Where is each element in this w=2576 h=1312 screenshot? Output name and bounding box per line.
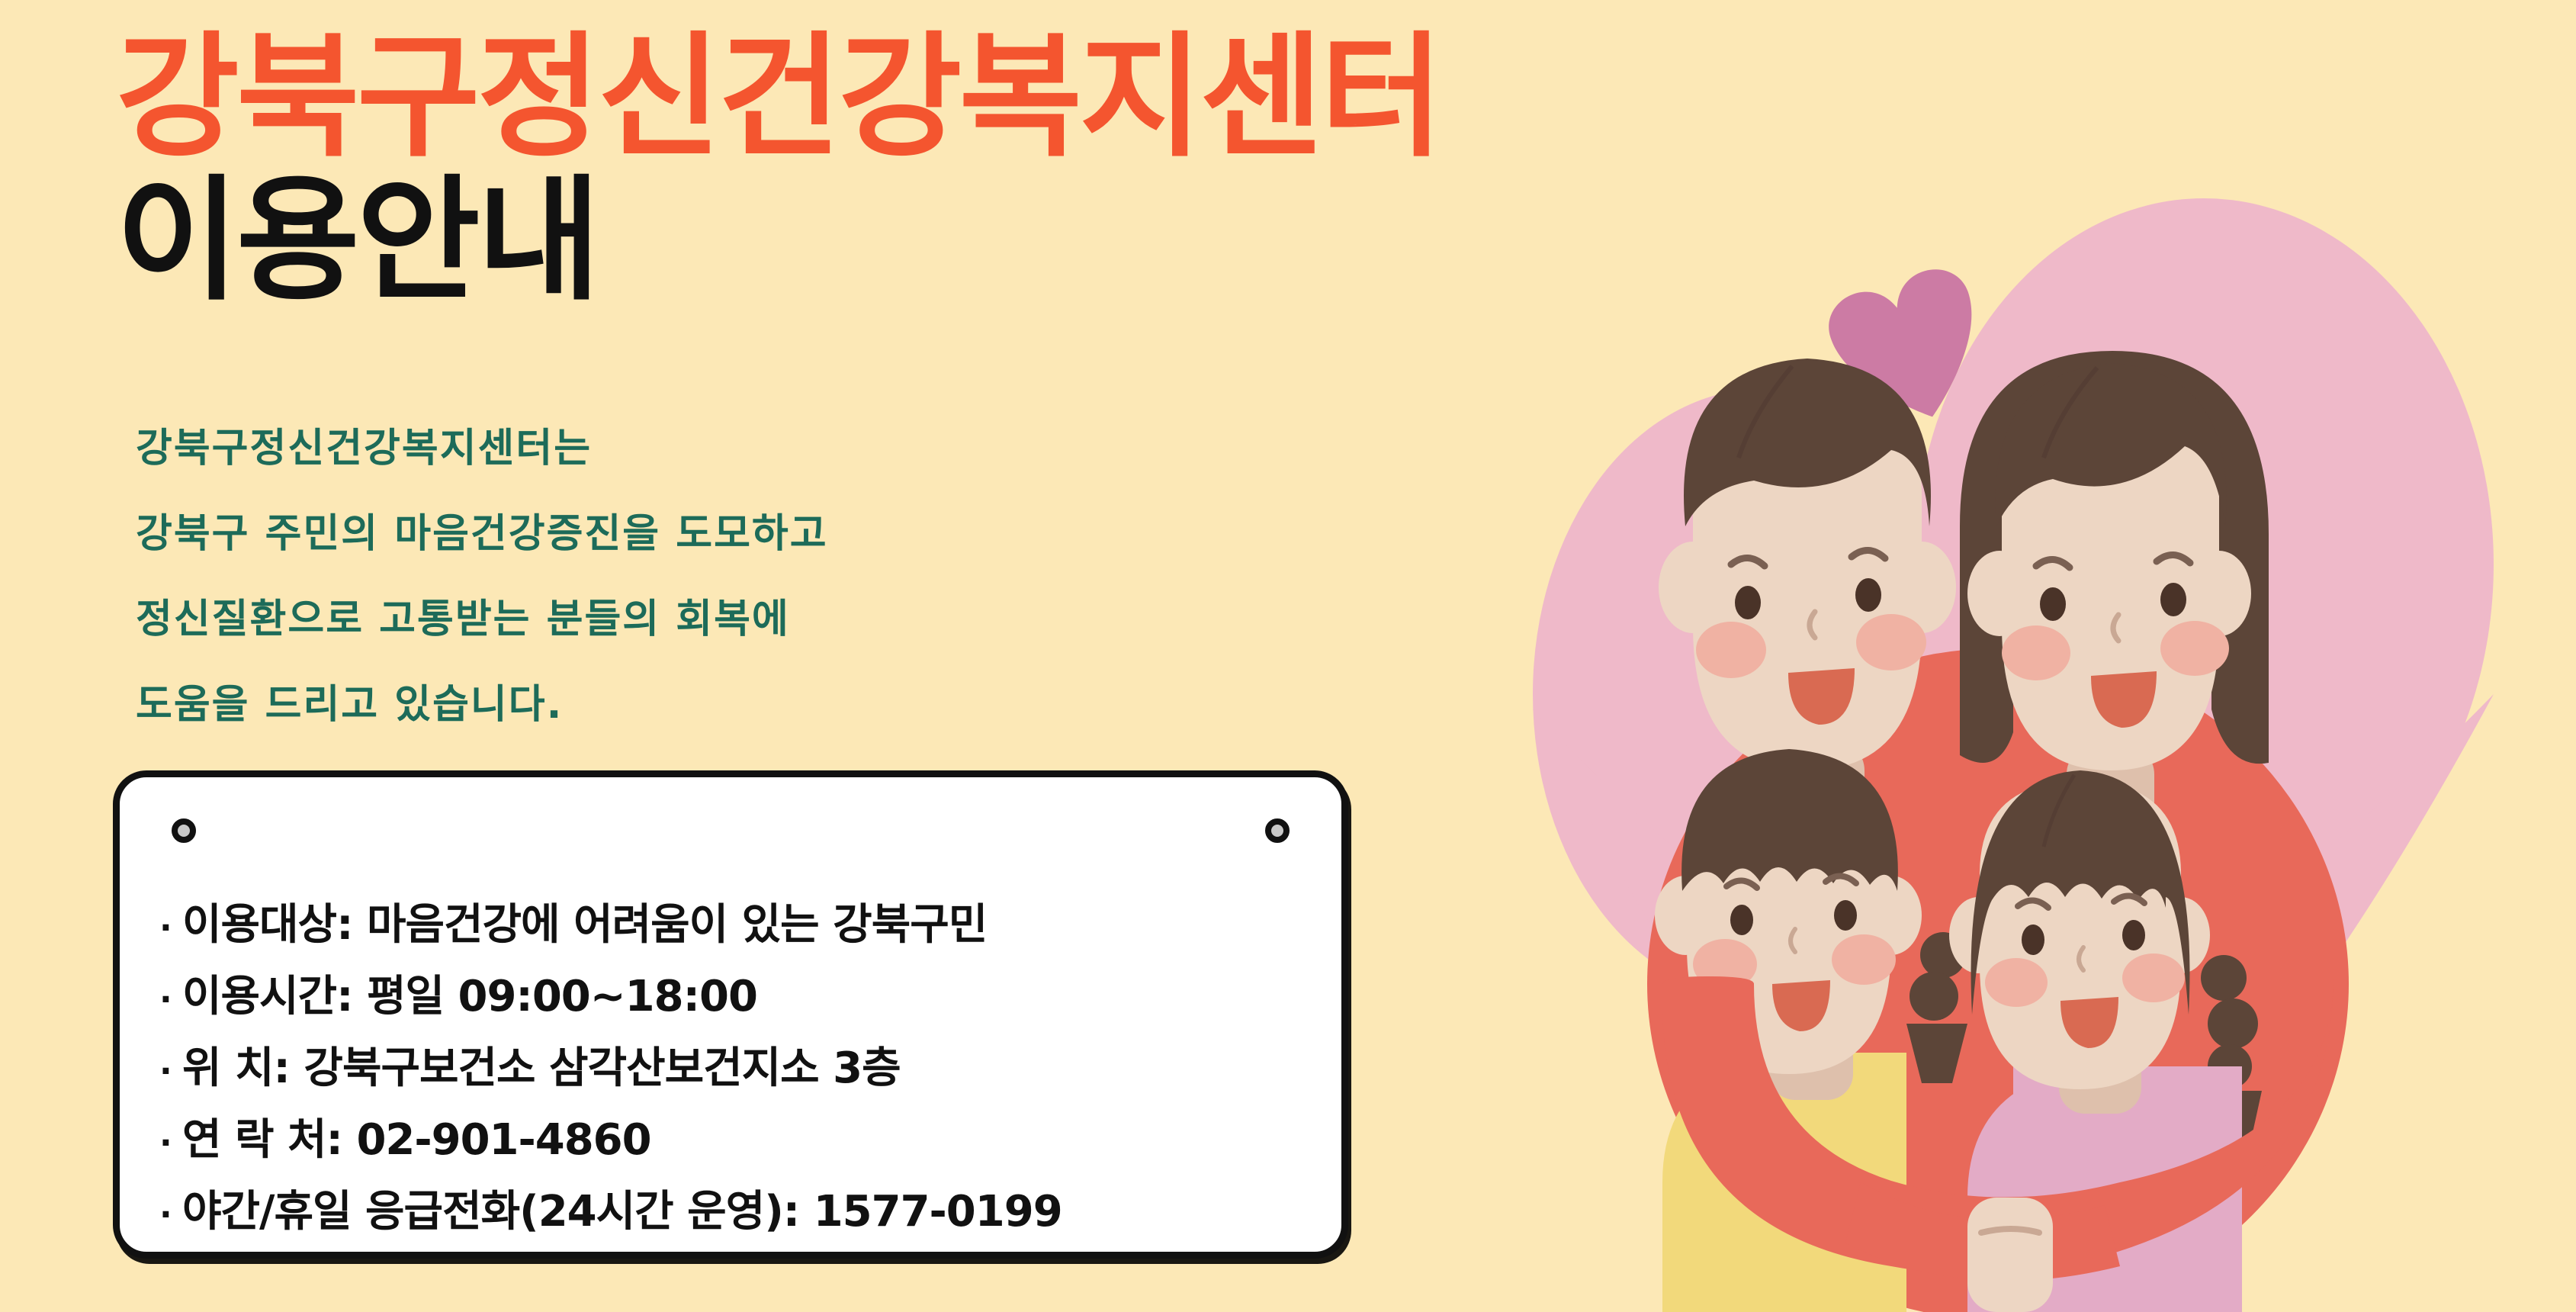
description-line: 정신질환으로 고통받는 분들의 회복에 bbox=[136, 577, 1280, 662]
info-row-eligibility: · 이용대상: 마음건강에 어려움이 있는 강북구민 bbox=[159, 890, 1319, 962]
info-row-label: 야간/휴일 응급전화(24시간 운영): 1577-0199 bbox=[182, 1177, 1062, 1239]
description-line: 강북구 주민의 마음건강증진을 도모하고 bbox=[136, 491, 1280, 577]
screw-hole-right-icon bbox=[1265, 818, 1290, 843]
bullet-icon: · bbox=[159, 1195, 182, 1234]
info-row-label: 이용대상: 마음건강에 어려움이 있는 강북구민 bbox=[182, 890, 987, 952]
description-paragraph: 강북구정신건강복지센터는 강북구 주민의 마음건강증진을 도모하고 정신질환으로… bbox=[136, 406, 1280, 748]
info-board: · 이용대상: 마음건강에 어려움이 있는 강북구민 · 이용시간: 평일 09… bbox=[113, 770, 1348, 1259]
description-line: 도움을 드리고 있습니다. bbox=[136, 662, 1280, 748]
bullet-icon: · bbox=[159, 1052, 182, 1091]
bullet-icon: · bbox=[159, 1124, 182, 1162]
info-list: · 이용대상: 마음건강에 어려움이 있는 강북구민 · 이용시간: 평일 09… bbox=[159, 890, 1319, 1249]
screw-hole-left-icon bbox=[172, 818, 196, 843]
bullet-icon: · bbox=[159, 980, 182, 1019]
info-row-location: · 위 치: 강북구보건소 삼각산보건지소 3층 bbox=[159, 1034, 1319, 1105]
info-row-hours: · 이용시간: 평일 09:00~18:00 bbox=[159, 962, 1319, 1034]
info-row-label: 위 치: 강북구보건소 삼각산보건지소 3층 bbox=[182, 1034, 901, 1095]
info-row-label: 연 락 처: 02-901-4860 bbox=[182, 1105, 651, 1167]
family-heart-illustration bbox=[1434, 99, 2576, 1312]
info-row-label: 이용시간: 평일 09:00~18:00 bbox=[182, 962, 757, 1024]
poster-canvas: 강북구정신건강복지센터 이용안내 강북구정신건강복지센터는 강북구 주민의 마음… bbox=[0, 0, 2576, 1312]
bullet-icon: · bbox=[159, 908, 182, 947]
info-row-emergency: · 야간/휴일 응급전화(24시간 운영): 1577-0199 bbox=[159, 1177, 1319, 1249]
description-line: 강북구정신건강복지센터는 bbox=[136, 406, 1280, 491]
hand-shape bbox=[1967, 1198, 2053, 1312]
info-row-phone: · 연 락 처: 02-901-4860 bbox=[159, 1105, 1319, 1177]
family-heart-svg bbox=[1434, 99, 2576, 1312]
